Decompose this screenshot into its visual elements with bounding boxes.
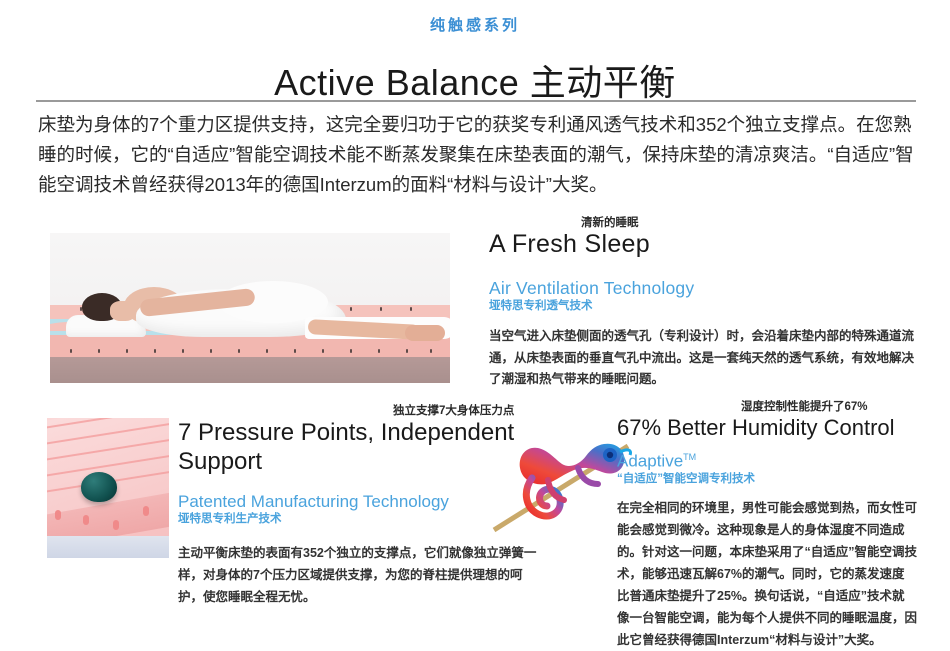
pressure-points-heading: 7 Pressure Points, Independent Support <box>178 418 538 476</box>
trademark-mark: TM <box>683 452 696 462</box>
humidity-heading: 67% Better Humidity Control <box>617 414 917 441</box>
chameleon-icon <box>492 422 632 540</box>
section-pressure-points: 独立支撑7大身体压力点 7 Pressure Points, Independe… <box>178 404 538 608</box>
series-label: 纯触感系列 <box>0 14 950 35</box>
fresh-sleep-subheading-cn: 垭特思专利透气技术 <box>489 299 919 314</box>
page-title: Active Balance 主动平衡 <box>0 54 950 106</box>
marketing-page: 纯触感系列 Active Balance 主动平衡 床垫为身体的7个重力区提供支… <box>0 0 950 649</box>
base-vent-dots <box>50 349 450 355</box>
pressure-ball <box>81 472 117 502</box>
pressure-points-subheading: Patented Manufacturing Technology <box>178 491 538 512</box>
fresh-sleep-heading: A Fresh Sleep <box>489 229 919 259</box>
fresh-sleep-body: 当空气进入床垫侧面的透气孔（专利设计）时，会沿着床垫内部的特殊通道流通，从床垫表… <box>489 326 919 391</box>
fresh-sleep-subheading: Air Ventilation Technology <box>489 278 919 299</box>
pressure-points-body: 主动平衡床垫的表面有352个独立的支撑点，它们就像独立弹簧一样，对身体的7个压力… <box>178 542 538 608</box>
humidity-subheading-text: Adaptive <box>617 452 683 471</box>
intro-paragraph: 床垫为身体的7个重力区提供支持，这完全要归功于它的获奖专利通风透气技术和352个… <box>38 110 918 200</box>
section-humidity-control: 湿度控制性能提升了67% 67% Better Humidity Control… <box>617 400 917 651</box>
header-divider <box>36 100 916 102</box>
photo-floor <box>50 355 450 383</box>
pressure-points-kicker: 独立支撑7大身体压力点 <box>393 404 538 418</box>
humidity-subheading-cn: “自适应”智能空调专利技术 <box>617 472 917 487</box>
humidity-body: 在完全相同的环境里，男性可能会感觉到热，而女性可能会感觉到微冷。这种现象是人的身… <box>617 497 917 651</box>
top-photo: + + + + <box>50 233 450 383</box>
fresh-sleep-kicker: 清新的睡眠 <box>581 216 919 230</box>
pressure-points-subheading-cn: 垭特思专利生产技术 <box>178 512 538 527</box>
humidity-subheading: AdaptiveTM <box>617 447 917 472</box>
foam-base-layer <box>47 536 169 558</box>
section-fresh-sleep: 清新的睡眠 A Fresh Sleep Air Ventilation Tech… <box>489 216 919 391</box>
person-hand <box>405 325 445 341</box>
humidity-kicker: 湿度控制性能提升了67% <box>741 400 917 414</box>
bottom-left-photo <box>47 418 169 558</box>
